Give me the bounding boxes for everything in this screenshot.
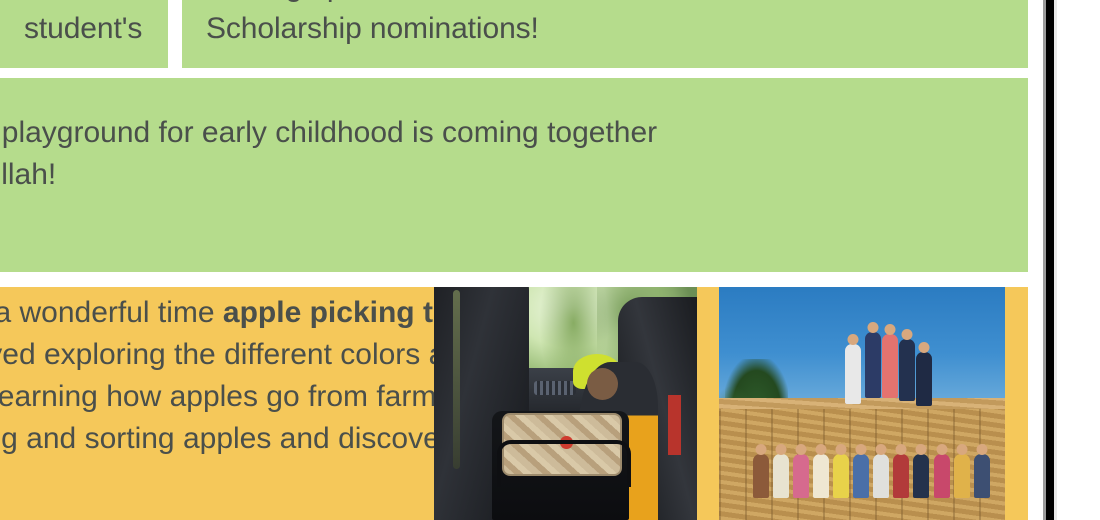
photo-bus-red-accent	[668, 395, 681, 455]
photo-bus-vent	[534, 381, 576, 395]
photo-hay-child	[882, 334, 898, 398]
apple-line-1-before: Our students had a wonderful time	[0, 296, 223, 329]
photo-hay-child	[974, 454, 990, 498]
newsletter-page: student's coming up soon in November! Al…	[0, 0, 1028, 520]
photo-bus-seatbelt	[453, 290, 461, 469]
photo-hay-child	[753, 454, 769, 498]
photo-hay-child	[954, 454, 970, 498]
photo-hay-bales	[719, 287, 1005, 520]
apple-line-4: our tables, counting and sorting apples …	[0, 422, 490, 455]
photo-bus-apples	[434, 287, 697, 520]
band-apple-picking: Our students had a wonderful time apple …	[0, 287, 1028, 520]
apple-line-3: flavors of apples, learning how apples g…	[0, 380, 485, 413]
photo-hay-child	[845, 344, 861, 404]
photo-hay-child	[934, 454, 950, 498]
card-student-text: student's	[24, 8, 144, 50]
photo-bus-face	[587, 368, 619, 401]
band-apple-picking-text: Our students had a wonderful time apple …	[0, 292, 490, 460]
band-playground-line1: Our new toddler playground for early chi…	[0, 116, 657, 149]
browser-viewport: student's coming up soon in November! Al…	[0, 0, 1100, 520]
band-playground-text: Our new toddler playground for early chi…	[0, 112, 1004, 196]
band-playground-line2: nicely, Alhamdulillah!	[0, 158, 56, 191]
window-edge-shadow	[1054, 0, 1057, 520]
card-announcement-line1: coming up soon in November! Also look ou…	[206, 0, 926, 3]
band-playground: Our new toddler playground for early chi…	[0, 78, 1028, 272]
card-student: student's	[0, 0, 168, 68]
photo-hay-child	[853, 454, 869, 498]
card-announcement-text: coming up soon in November! Also look ou…	[206, 0, 926, 50]
photo-hay-child	[793, 454, 809, 498]
photo-hay-child	[899, 339, 915, 401]
card-announcement: coming up soon in November! Also look ou…	[182, 0, 1028, 68]
photo-hay-child	[913, 454, 929, 498]
photo-hay-child	[833, 454, 849, 498]
top-card-row: student's coming up soon in November! Al…	[0, 0, 1028, 68]
apple-line-2: month! They enjoyed exploring the differ…	[0, 338, 479, 371]
photo-hay-child	[873, 454, 889, 498]
window-right-gutter	[1028, 0, 1100, 520]
photo-hay-child	[813, 454, 829, 498]
card-announcement-line2: Scholarship nominations!	[206, 12, 539, 45]
scrollbar-thumb[interactable]	[1046, 0, 1054, 520]
photo-hay-child	[773, 454, 789, 498]
photo-bus-stroller-handle	[497, 440, 631, 488]
photo-hay-child	[893, 454, 909, 498]
photo-hay-child	[916, 352, 932, 406]
photo-hay-child	[865, 332, 881, 398]
